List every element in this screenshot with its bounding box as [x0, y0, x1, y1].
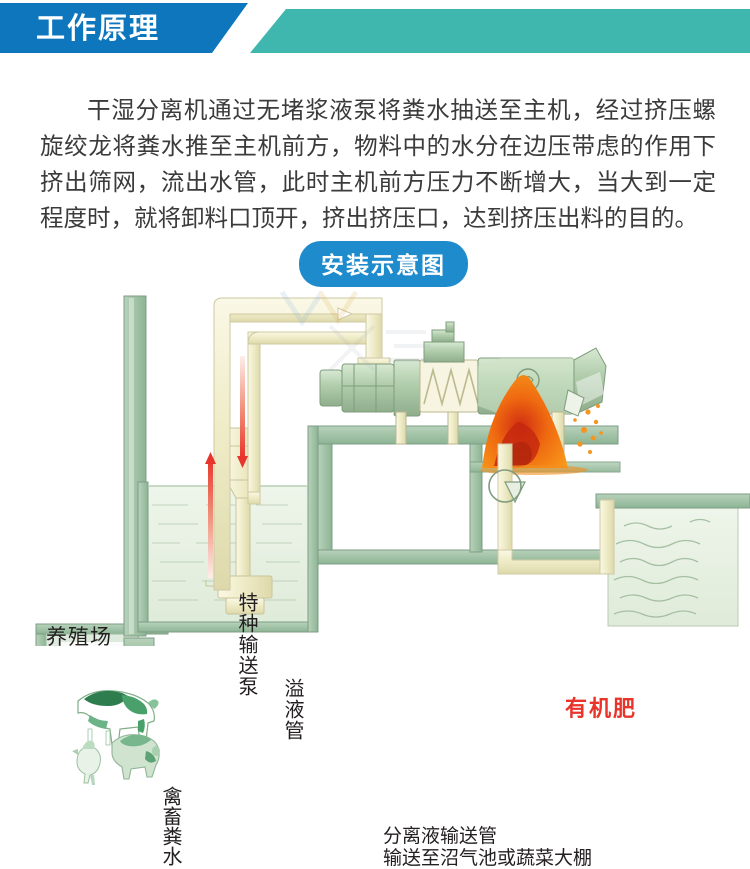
working-principle-paragraph: 干湿分离机通过无堵浆液泵将粪水抽送至主机，经过挤压螺旋绞龙将粪水推至主机前方，物…	[40, 92, 716, 236]
label-farm: 养殖场	[46, 621, 112, 651]
pig-icon	[112, 735, 160, 779]
label-separated-liquid-line2: 输送至沼气池或蔬菜大棚	[383, 847, 592, 869]
label-organic-fertilizer: 有机肥	[565, 691, 637, 723]
label-separated-liquid: 分离液输送管 输送至沼气池或蔬菜大棚	[383, 825, 592, 869]
page-title: 工作原理	[36, 11, 160, 45]
chicken-icon	[72, 741, 101, 785]
overflow-pipe	[248, 332, 366, 504]
label-special-pump: 特种输送泵	[236, 592, 257, 697]
installation-diagram-badge: 安装示意图	[299, 241, 468, 287]
installation-diagram: 养殖场 特种输送泵 溢液管 禽畜粪水 有机肥 分离液输送管 输送至沼气池或蔬菜大…	[0, 286, 750, 646]
label-manure-water: 禽畜粪水	[160, 786, 182, 866]
label-separated-liquid-line1: 分离液输送管	[383, 825, 497, 847]
livestock-illustration	[60, 671, 180, 791]
liquid-storage-tank	[596, 494, 750, 626]
label-overflow-pipe: 溢液管	[282, 678, 303, 741]
banner-teal-shape	[250, 9, 750, 53]
machine-platform	[318, 426, 620, 564]
header-banner: 工作原理	[0, 3, 750, 53]
diagram-svg	[0, 286, 750, 646]
